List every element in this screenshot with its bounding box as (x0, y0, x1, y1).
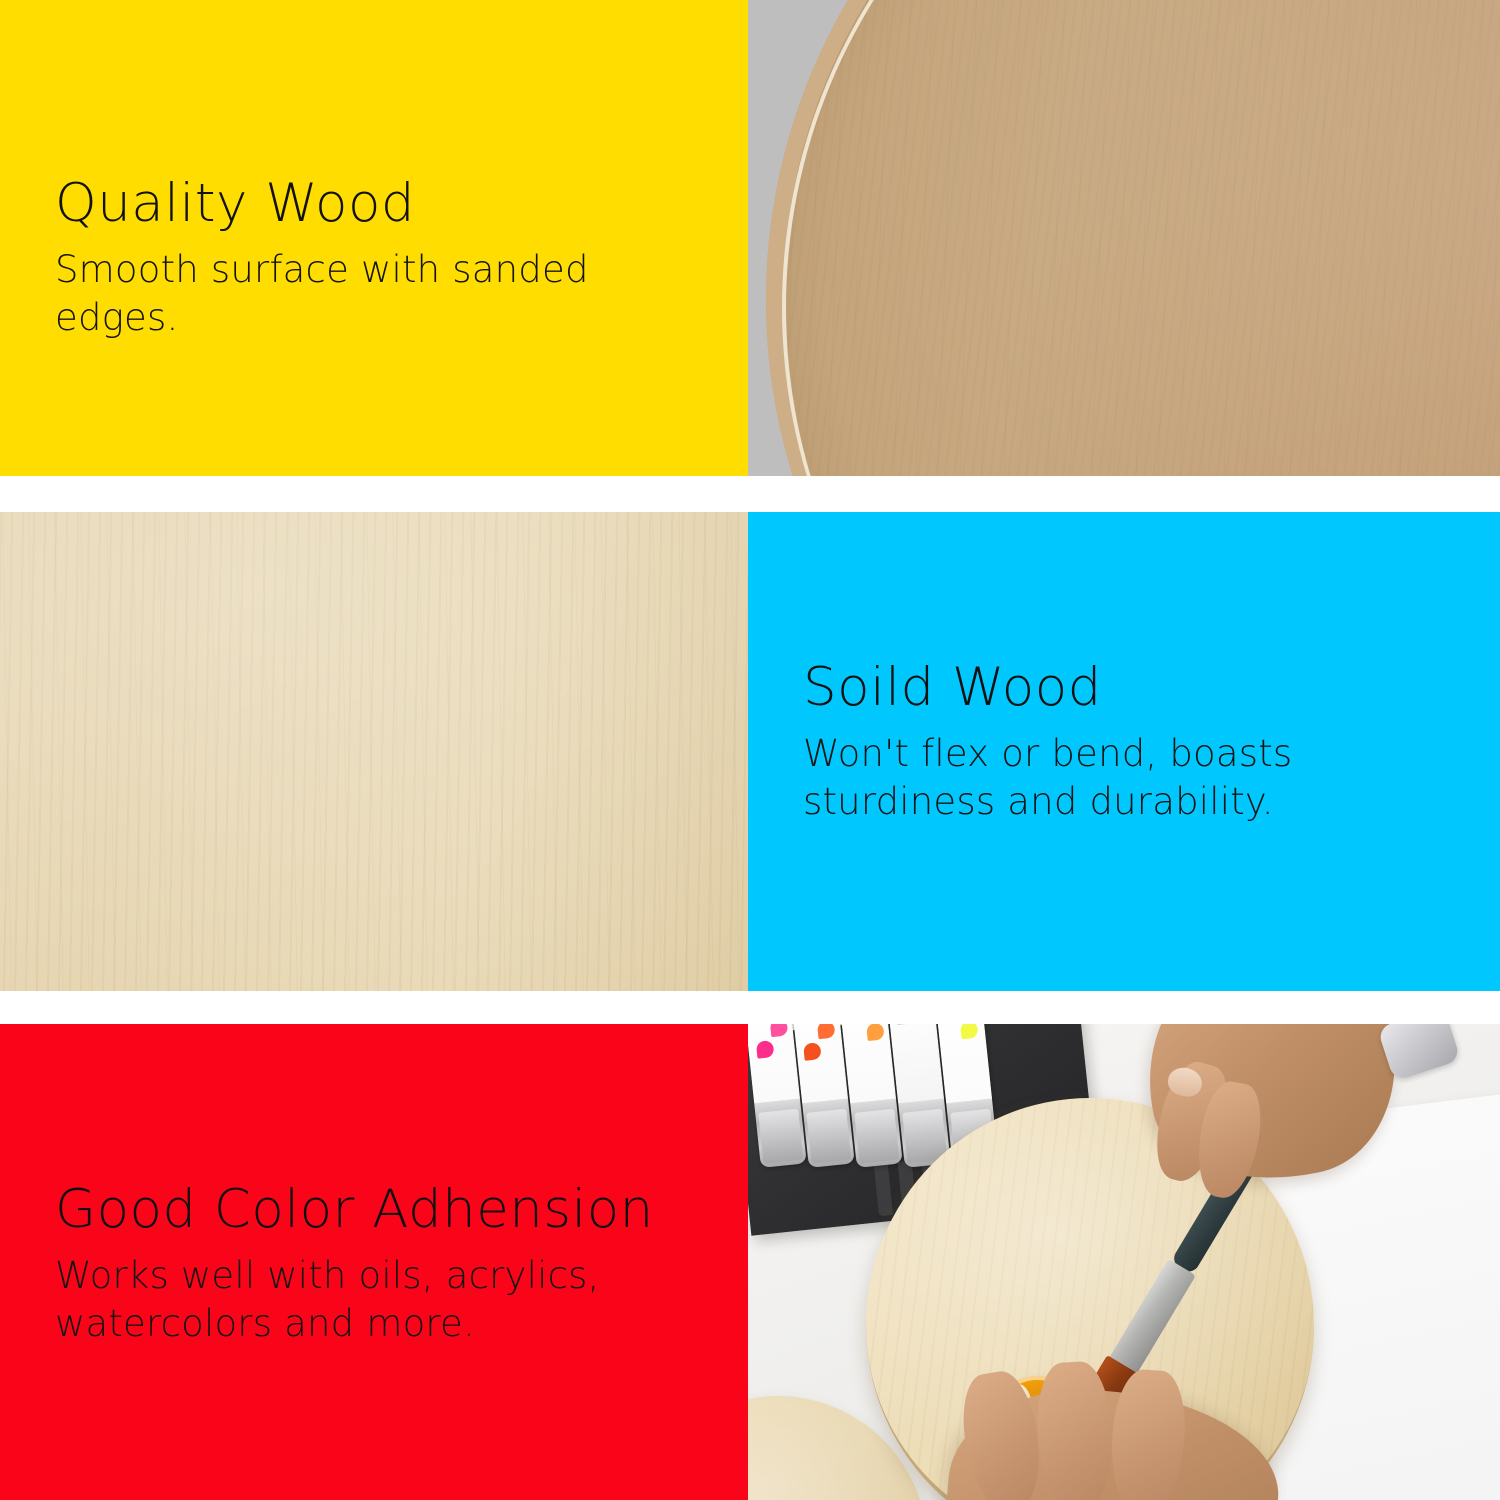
wood-disc-rim-grain (766, 0, 1500, 477)
headline-soild-wood: Soild Wood (803, 660, 1460, 716)
headline-good-color-adhension: Good Color Adhension (55, 1182, 708, 1238)
row-gutter-1 (0, 476, 1500, 512)
photo-wood-disc-grey (748, 0, 1500, 477)
birch-disc (0, 512, 748, 992)
feature-row-good-color-adhension: Good Color Adhension Works well with oil… (0, 1024, 1500, 1500)
feature-row-soild-wood: Soild Wood Won't flex or bend, boasts st… (0, 512, 1500, 992)
photo-painting-scene: ACRYL PAINT ACRYL PAINT ACRYL PAINT (748, 1024, 1500, 1500)
photo-birch-round (0, 512, 748, 992)
panel-quality-wood: Quality Wood Smooth surface with sanded … (0, 0, 748, 477)
subline-good-color-adhension: Works well with oils, acrylics, watercol… (55, 1252, 708, 1348)
panel-copy-soild-wood: Soild Wood Won't flex or bend, boasts st… (803, 660, 1460, 826)
infographic-sheet: Quality Wood Smooth surface with sanded … (0, 0, 1500, 1500)
panel-soild-wood: Soild Wood Won't flex or bend, boasts st… (748, 512, 1500, 992)
feature-row-quality-wood: Quality Wood Smooth surface with sanded … (0, 0, 1500, 477)
row-gutter-2 (0, 991, 1500, 1027)
panel-copy-good-color-adhension: Good Color Adhension Works well with oil… (55, 1182, 708, 1348)
panel-good-color-adhension: Good Color Adhension Works well with oil… (0, 1024, 748, 1500)
subline-soild-wood: Won't flex or bend, boasts sturdiness an… (803, 730, 1460, 826)
headline-quality-wood: Quality Wood (55, 176, 708, 232)
subline-quality-wood: Smooth surface with sanded edges. (55, 246, 708, 342)
panel-copy-quality-wood: Quality Wood Smooth surface with sanded … (55, 176, 708, 342)
